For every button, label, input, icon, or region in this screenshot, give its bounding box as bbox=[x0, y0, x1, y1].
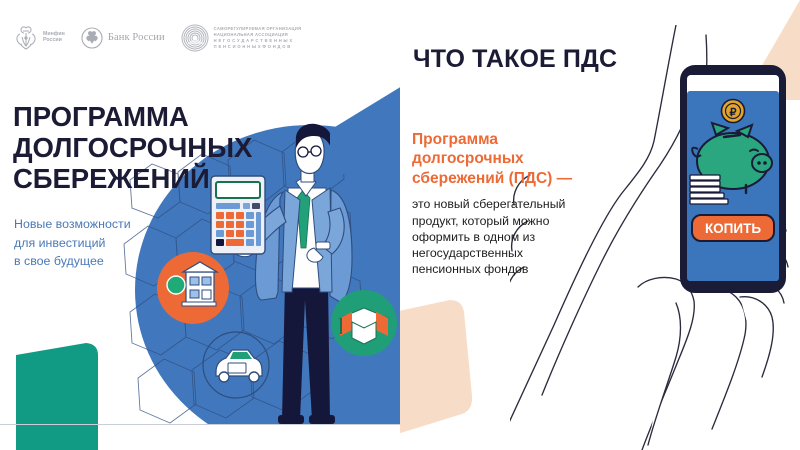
slide-canvas: Минфин России Банк России bbox=[0, 0, 800, 450]
kopit-button-label: КОПИТЬ bbox=[705, 221, 761, 236]
lede-paragraph: Программа долгосрочных сбережений (ПДС) … bbox=[412, 130, 664, 189]
partner-logos: Минфин России Банк России bbox=[14, 24, 301, 52]
smartphone: ₽ bbox=[678, 63, 788, 295]
peach-block-shape bbox=[400, 300, 490, 450]
poster-baseline-rule bbox=[0, 424, 400, 425]
logo-bank-of-russia: Банк России bbox=[81, 27, 165, 49]
napf-concentric-circles-emblem bbox=[181, 24, 209, 52]
poster-subtitle: Новые возможности для инвестиций в свое … bbox=[14, 215, 244, 270]
content-panel: ₽ bbox=[400, 0, 800, 450]
poster-panel: Минфин России Банк России bbox=[0, 0, 400, 450]
logo-minfin-line2: России bbox=[43, 38, 65, 44]
logo-napf-line1: САМОРЕГУЛИРУЕМАЯ ОРГАНИЗАЦИЯ bbox=[214, 26, 302, 32]
teal-block-shape bbox=[8, 343, 98, 450]
green-education-badge bbox=[331, 290, 397, 356]
slide-heading: ЧТО ТАКОЕ ПДС bbox=[413, 45, 617, 74]
double-headed-eagle-emblem bbox=[14, 25, 38, 51]
logo-napf-line4: П Е Н С И О Н Н Ы Х Ф О Н Д О В bbox=[214, 44, 302, 50]
ruble-coin-icon: ₽ bbox=[722, 100, 745, 123]
logo-napf: САМОРЕГУЛИРУЕМАЯ ОРГАНИЗАЦИЯ НАЦИОНАЛЬНА… bbox=[181, 24, 302, 52]
logo-minfin: Минфин России bbox=[14, 25, 65, 51]
bank-of-russia-eagle-emblem bbox=[81, 27, 103, 49]
poster-title: ПРОГРАММА ДОЛГОСРОЧНЫХ СБЕРЕЖЕНИЙ bbox=[13, 102, 343, 194]
kopit-button[interactable]: КОПИТЬ bbox=[692, 215, 774, 241]
logo-bank-of-russia-label: Банк России bbox=[108, 32, 165, 44]
body-paragraph: это новый сберегательный продукт, которы… bbox=[412, 196, 612, 277]
svg-text:₽: ₽ bbox=[730, 107, 737, 119]
